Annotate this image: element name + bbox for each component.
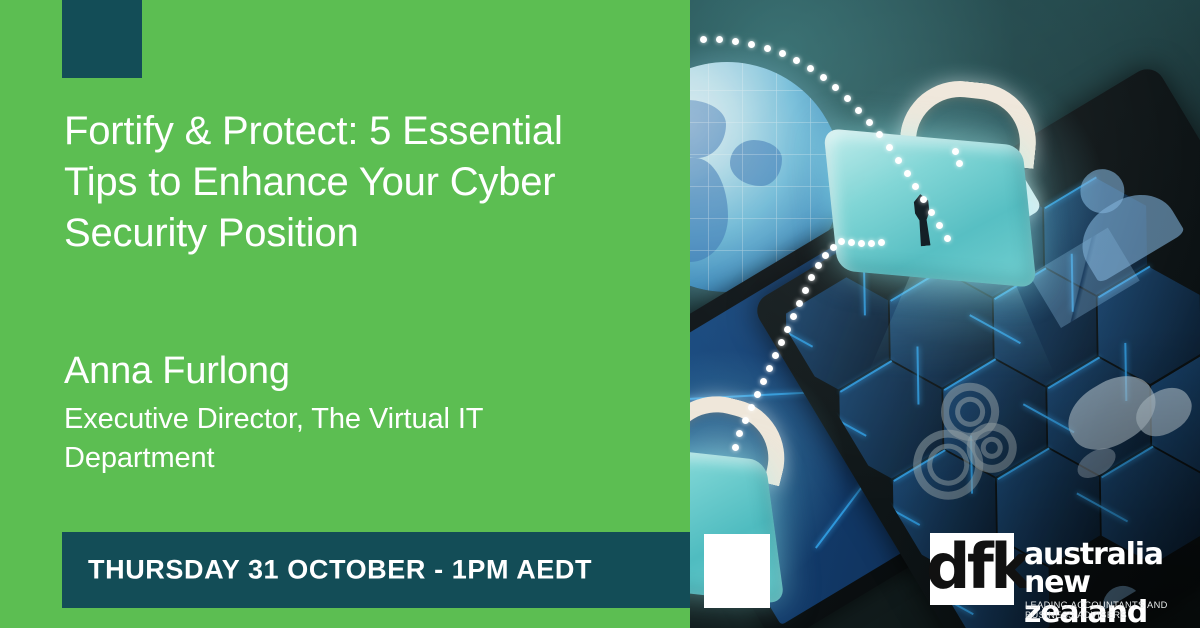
- date-time-banner: THURSDAY 31 OCTOBER - 1PM AEDT: [62, 532, 690, 608]
- speaker-name: Anna Furlong: [64, 348, 290, 394]
- title-line-1: Fortify & Protect: 5 Essential: [64, 106, 689, 157]
- date-time-text: THURSDAY 31 OCTOBER - 1PM AEDT: [88, 555, 592, 586]
- white-block-artifact: [704, 534, 770, 608]
- dfk-logo: dfk australia new zealand LEADING ACCOUN…: [928, 530, 1190, 622]
- speaker-role-line-2: Department: [64, 439, 664, 478]
- logo-wordmark: dfk: [926, 536, 1028, 598]
- title-line-3: Security Position: [64, 208, 689, 259]
- speaker-role-line-1: Executive Director, The Virtual IT: [64, 400, 664, 439]
- speaker-role: Executive Director, The Virtual IT Depar…: [64, 400, 664, 478]
- page-title: Fortify & Protect: 5 Essential Tips to E…: [64, 106, 689, 259]
- promo-banner: Fortify & Protect: 5 Essential Tips to E…: [0, 0, 1200, 628]
- teal-accent-square: [62, 0, 142, 78]
- logo-tagline: LEADING ACCOUNTANTS AND BUSINESS ADVISER…: [1025, 600, 1190, 620]
- green-content-panel: Fortify & Protect: 5 Essential Tips to E…: [0, 0, 690, 628]
- title-line-2: Tips to Enhance Your Cyber: [64, 157, 689, 208]
